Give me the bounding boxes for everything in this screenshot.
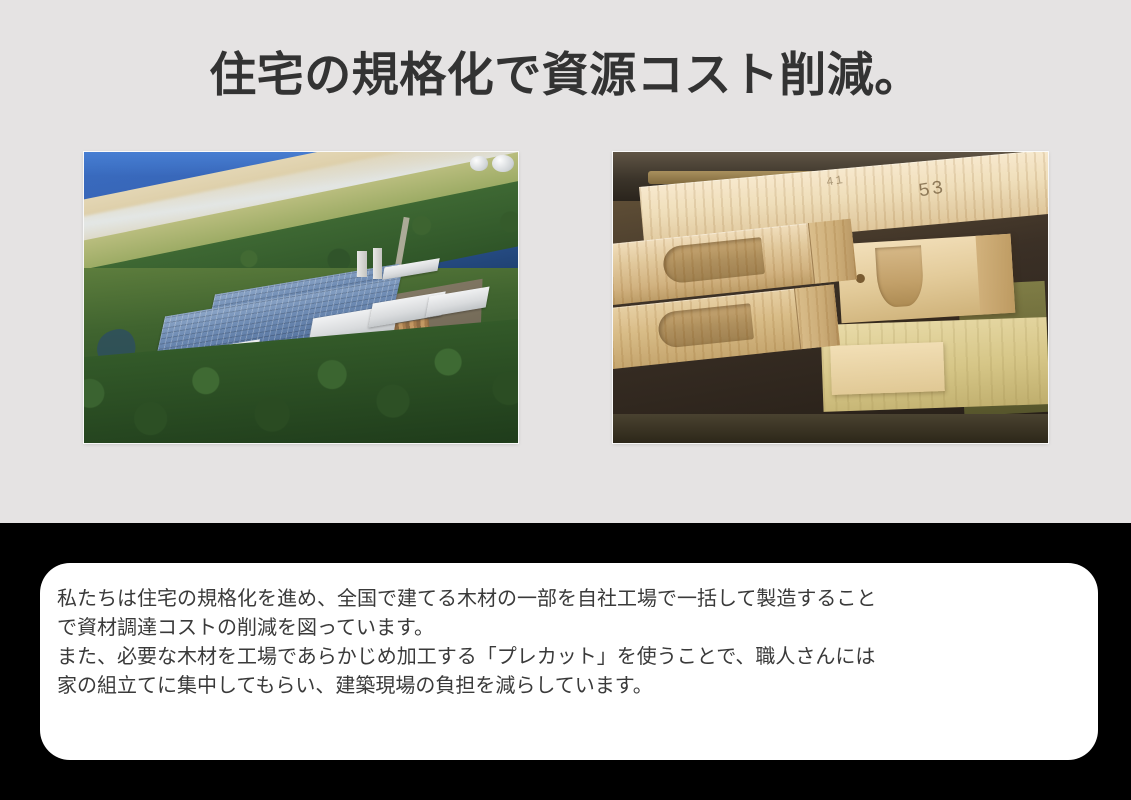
upper-content-panel: 住宅の規格化で資源コスト削減。 (0, 0, 1131, 523)
slide-root: 住宅の規格化で資源コスト削減。 (0, 0, 1131, 800)
u-shaped-notch (876, 246, 925, 308)
block-end-grain (976, 234, 1016, 315)
beam-mark-53: 53 (917, 176, 947, 202)
beam-mark-41: 41 (825, 173, 845, 190)
beam-end-grain-lower (794, 285, 840, 350)
rounded-joint-notch-lower (657, 303, 754, 349)
precut-lumber-photo: 53 41 (613, 152, 1048, 443)
description-line-4: 家の組立てに集中してもらい、建築現場の負担を減らしています。 (57, 671, 1081, 700)
page-title: 住宅の規格化で資源コスト削減。 (0, 36, 1131, 105)
silo-b (373, 248, 383, 279)
storage-tank-b (470, 156, 487, 171)
description-line-2: で資材調達コストの削減を図っています。 (57, 613, 1081, 642)
workshop-floor (613, 414, 1048, 443)
drill-hole (856, 274, 865, 283)
beam-end-grain-upper (808, 219, 857, 284)
description-card: 私たちは住宅の規格化を進め、全国で建てる木材の一部を自社工場で一括して製造するこ… (40, 563, 1098, 760)
precut-lumber-photo-content: 53 41 (613, 152, 1048, 443)
silo-a (357, 251, 367, 277)
description-text: 私たちは住宅の規格化を進め、全国で建てる木材の一部を自社工場で一括して製造するこ… (57, 584, 1081, 700)
description-line-1: 私たちは住宅の規格化を進め、全国で建てる木材の一部を自社工場で一括して製造するこ… (57, 584, 1081, 613)
rounded-joint-notch-upper (661, 237, 765, 285)
description-line-3: また、必要な木材を工場であらかじめ加工する「プレカット」を使うことで、職人さんに… (57, 642, 1081, 671)
small-precut-board (830, 342, 945, 395)
storage-tank-a (492, 155, 514, 172)
aerial-factory-photo-content (84, 152, 518, 443)
notched-end-block (837, 234, 1015, 323)
aerial-factory-photo (84, 152, 518, 443)
